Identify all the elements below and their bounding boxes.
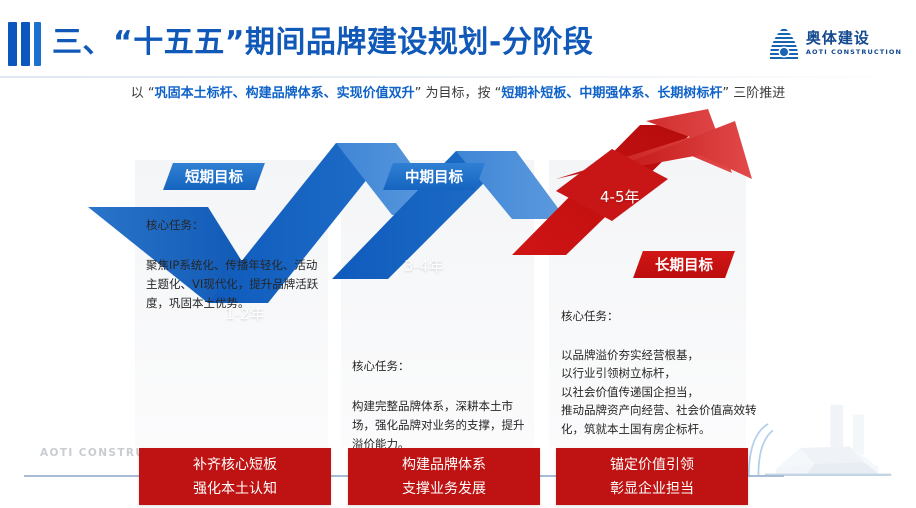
subtitle-part-2: ” 为目标，按 “ [415,86,502,101]
title-bar-2 [21,22,30,66]
stage-lead-long-term: 核心任务： [561,307,761,326]
result-line-2: 彰显企业担当 [610,477,694,501]
result-box-short-term: 补齐核心短板 强化本土认知 [139,448,331,505]
subtitle-part-1: 以 “ [131,86,155,101]
stage-tag-short-term-label: 短期目标 [185,166,243,187]
page-title: 三、“十五五”期间品牌建设规划-分阶段 [52,20,593,66]
title-bar-3 [34,22,41,66]
stage-detail-short-term: 聚焦IP系统化、传播年轻化、活动主题化、VI现代化，提升品牌活跃度，巩固本土优势… [146,258,318,310]
stage-tag-long-term-label: 长期目标 [655,254,713,275]
stage-detail-mid-term: 构建完整品牌体系，深耕本土市场，强化品牌对业务的支撑，提升溢价能力。 [352,399,525,451]
stadium-building-watermark-icon [744,400,904,496]
title-bar-1 [8,22,17,66]
stage-tag-mid-term-label: 中期目标 [405,166,463,187]
stage-tag-long-term: 长期目标 [633,251,735,278]
result-line-1: 构建品牌体系 [402,453,486,477]
result-line-1: 锚定价值引领 [610,453,694,477]
stage-body-mid-term: 核心任务： 构建完整品牌体系，深耕本土市场，强化品牌对业务的支撑，提升溢价能力。 [352,338,532,454]
subtitle-highlight-1: 巩固本土标杆、构建品牌体系、实现价值双升 [155,86,415,101]
result-line-1: 补齐核心短板 [193,453,277,477]
result-box-long-term: 锚定价值引领 彰显企业担当 [556,448,748,505]
stage-detail-long-term: 以品牌溢价夯实经营根基， 以行业引领树立标杆， 以社会价值传递国企担当， 推动品… [561,348,757,436]
slide-subtitle: 以 “巩固本土标杆、构建品牌体系、实现价值双升” 为目标，按 “短期补短板、中期… [0,84,916,104]
stage-body-short-term: 核心任务： 聚焦IP系统化、传播年轻化、活动主题化、VI现代化，提升品牌活跃度，… [146,197,324,313]
stage-tag-short-term: 短期目标 [163,163,265,190]
result-box-mid-term: 构建品牌体系 支撑业务发展 [348,448,540,505]
subtitle-part-3: ” 三阶推进 [722,86,785,101]
stage-tag-mid-term: 中期目标 [383,163,485,190]
stage-lead-short-term: 核心任务： [146,216,324,235]
result-line-2: 支撑业务发展 [402,477,486,501]
stage-lead-mid-term: 核心任务： [352,357,532,376]
company-logo: 奥体建设 AOTI CONSTRUCTION [769,26,902,60]
title-accent-bars [8,22,41,66]
year-label-mid-term: 3-4年 [404,255,444,276]
subtitle-highlight-2: 短期补短板、中期强体系、长期树标杆 [501,86,722,101]
aoti-stadium-logo-icon [769,26,799,60]
header-divider [0,76,916,78]
year-label-long-term: 4-5年 [600,186,640,207]
logo-company-name-en: AOTI CONSTRUCTION [806,49,902,56]
logo-company-name-cn: 奥体建设 [806,31,902,46]
stage-body-long-term: 核心任务： 以品牌溢价夯实经营根基， 以行业引领树立标杆， 以社会价值传递国企担… [561,288,761,438]
result-line-2: 强化本土认知 [193,477,277,501]
